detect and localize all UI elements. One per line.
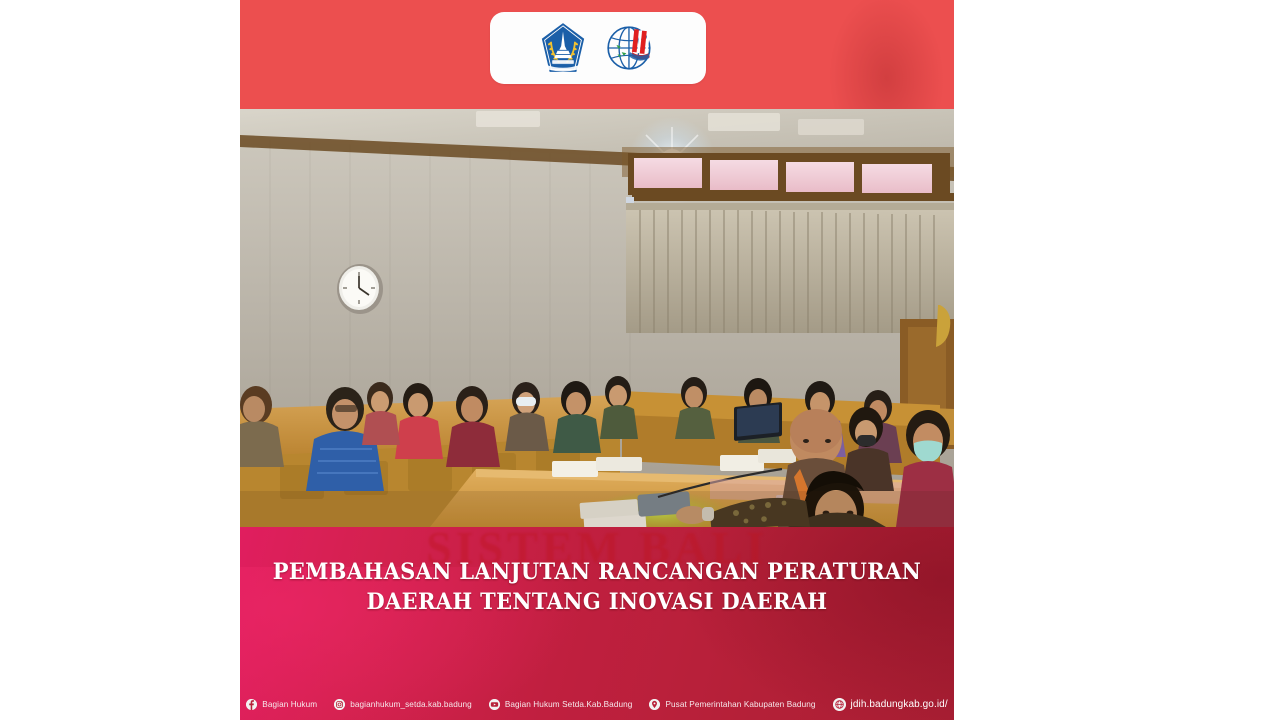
youtube-icon: [489, 699, 500, 710]
social-item-facebook[interactable]: Bagian Hukum: [246, 699, 317, 710]
social-item-location[interactable]: Pusat Pemerintahan Kabupaten Badung: [649, 699, 815, 710]
social-item-youtube[interactable]: Bagian Hukum Setda.Kab.Badung: [489, 699, 633, 710]
social-label-instagram: bagianhukum_setda.kab.badung: [350, 700, 472, 709]
social-item-website[interactable]: jdih.badungkab.go.id/: [833, 698, 948, 711]
social-label-location: Pusat Pemerintahan Kabupaten Badung: [665, 700, 815, 709]
poster-card: SISTEM BALI PEMBAHASAN LANJUTAN RANCANGA…: [240, 0, 954, 720]
facebook-icon: [246, 699, 257, 710]
social-label-facebook: Bagian Hukum: [262, 700, 317, 709]
footer-social-row: Bagian Hukum bagianhukum_setda.kab.badun…: [240, 698, 954, 711]
instagram-icon: [334, 699, 345, 710]
social-label-website: jdih.badungkab.go.id/: [851, 699, 948, 710]
poster-title-line-2: DAERAH TENTANG INOVASI DAERAH: [265, 587, 929, 617]
badung-regency-emblem-icon: [540, 22, 586, 74]
social-label-youtube: Bagian Hukum Setda.Kab.Badung: [505, 700, 633, 709]
poster-title-line-1: PEMBAHASAN LANJUTAN RANCANGAN PERATURAN: [265, 557, 929, 587]
screenshot-canvas: SISTEM BALI PEMBAHASAN LANJUTAN RANCANGA…: [0, 0, 1280, 720]
poster-title: PEMBAHASAN LANJUTAN RANCANGAN PERATURAN …: [265, 557, 929, 617]
location-pin-icon: [649, 699, 660, 710]
globe-web-icon: [833, 698, 846, 711]
logo-card: [490, 12, 706, 84]
header-ghost-shape: [823, 0, 948, 109]
meeting-room-photo: [240, 109, 954, 527]
poster-caption-band: SISTEM BALI PEMBAHASAN LANJUTAN RANCANGA…: [240, 527, 954, 720]
poster-header-band: [240, 0, 954, 109]
social-item-instagram[interactable]: bagianhukum_setda.kab.badung: [334, 699, 472, 710]
jdih-globe-logo-icon: [604, 22, 656, 74]
